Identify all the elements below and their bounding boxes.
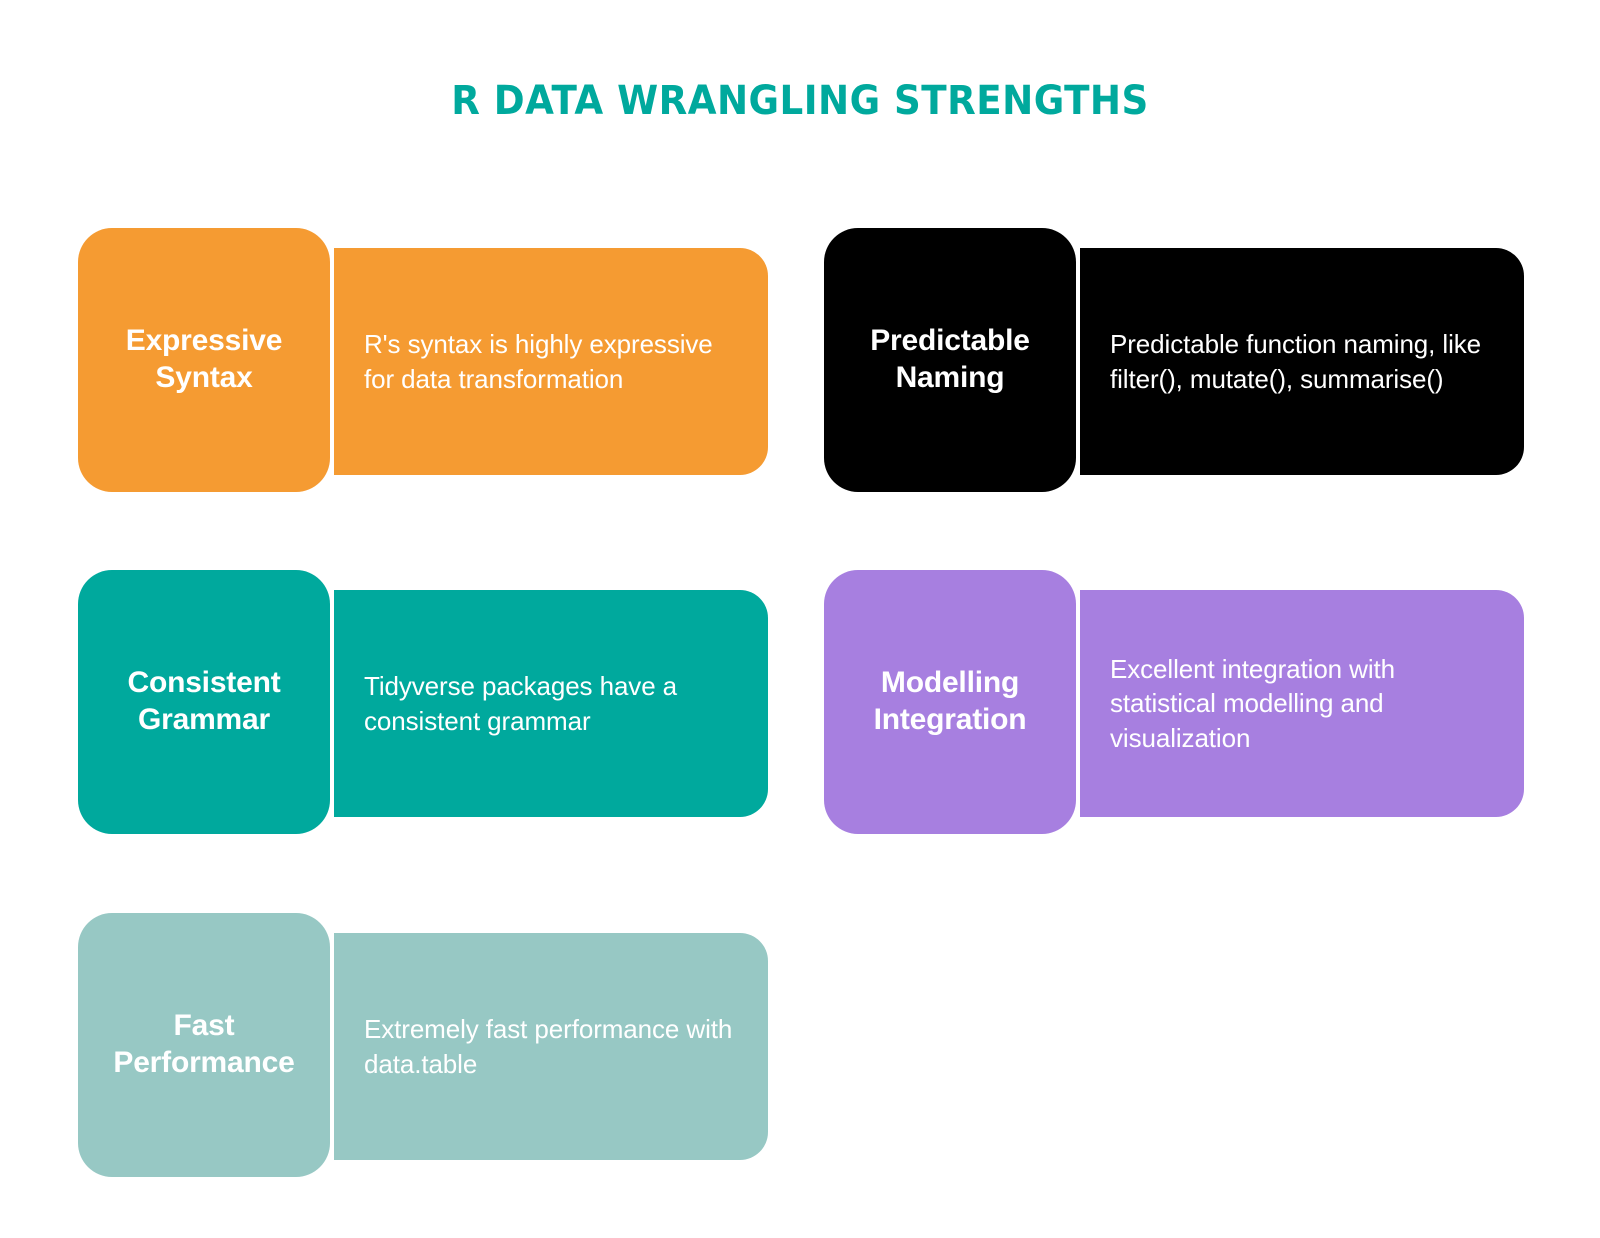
strength-description-block[interactable]: Tidyverse packages have a consistent gra… <box>334 590 768 817</box>
strength-description-block[interactable]: Excellent integration with statistical m… <box>1080 590 1524 817</box>
strength-label-block[interactable]: Consistent Grammar <box>78 570 330 834</box>
strength-label-block[interactable]: Fast Performance <box>78 913 330 1177</box>
strength-card[interactable]: Fast Performance Extremely fast performa… <box>78 913 768 1177</box>
strength-description-block[interactable]: Predictable function naming, like filter… <box>1080 248 1524 475</box>
strength-label-block[interactable]: Predictable Naming <box>824 228 1076 492</box>
strength-label-text: Modelling Integration <box>838 665 1062 738</box>
strength-description-block[interactable]: R's syntax is highly expressive for data… <box>334 248 768 475</box>
page-title: R DATA WRANGLING STRENGTHS <box>56 78 1544 124</box>
strength-label-block[interactable]: Expressive Syntax <box>78 228 330 492</box>
strength-description-block[interactable]: Extremely fast performance with data.tab… <box>334 933 768 1160</box>
strength-card[interactable]: Consistent Grammar Tidyverse packages ha… <box>78 570 768 834</box>
strength-card[interactable]: Predictable Naming Predictable function … <box>824 228 1524 492</box>
strength-card[interactable]: Modelling Integration Excellent integrat… <box>824 570 1524 834</box>
strength-label-block[interactable]: Modelling Integration <box>824 570 1076 834</box>
strength-card[interactable]: Expressive Syntax R's syntax is highly e… <box>78 228 768 492</box>
strength-description-text: Excellent integration with statistical m… <box>1110 652 1496 756</box>
strength-label-text: Fast Performance <box>92 1008 316 1081</box>
infographic-canvas: R DATA WRANGLING STRENGTHS Expressive Sy… <box>0 0 1600 1238</box>
strength-label-text: Expressive Syntax <box>92 323 316 396</box>
strength-description-text: Predictable function naming, like filter… <box>1110 327 1496 396</box>
strength-label-text: Predictable Naming <box>838 323 1062 396</box>
strength-label-text: Consistent Grammar <box>92 665 316 738</box>
strength-description-text: Tidyverse packages have a consistent gra… <box>364 669 740 738</box>
strength-description-text: R's syntax is highly expressive for data… <box>364 327 740 396</box>
strength-description-text: Extremely fast performance with data.tab… <box>364 1012 740 1081</box>
